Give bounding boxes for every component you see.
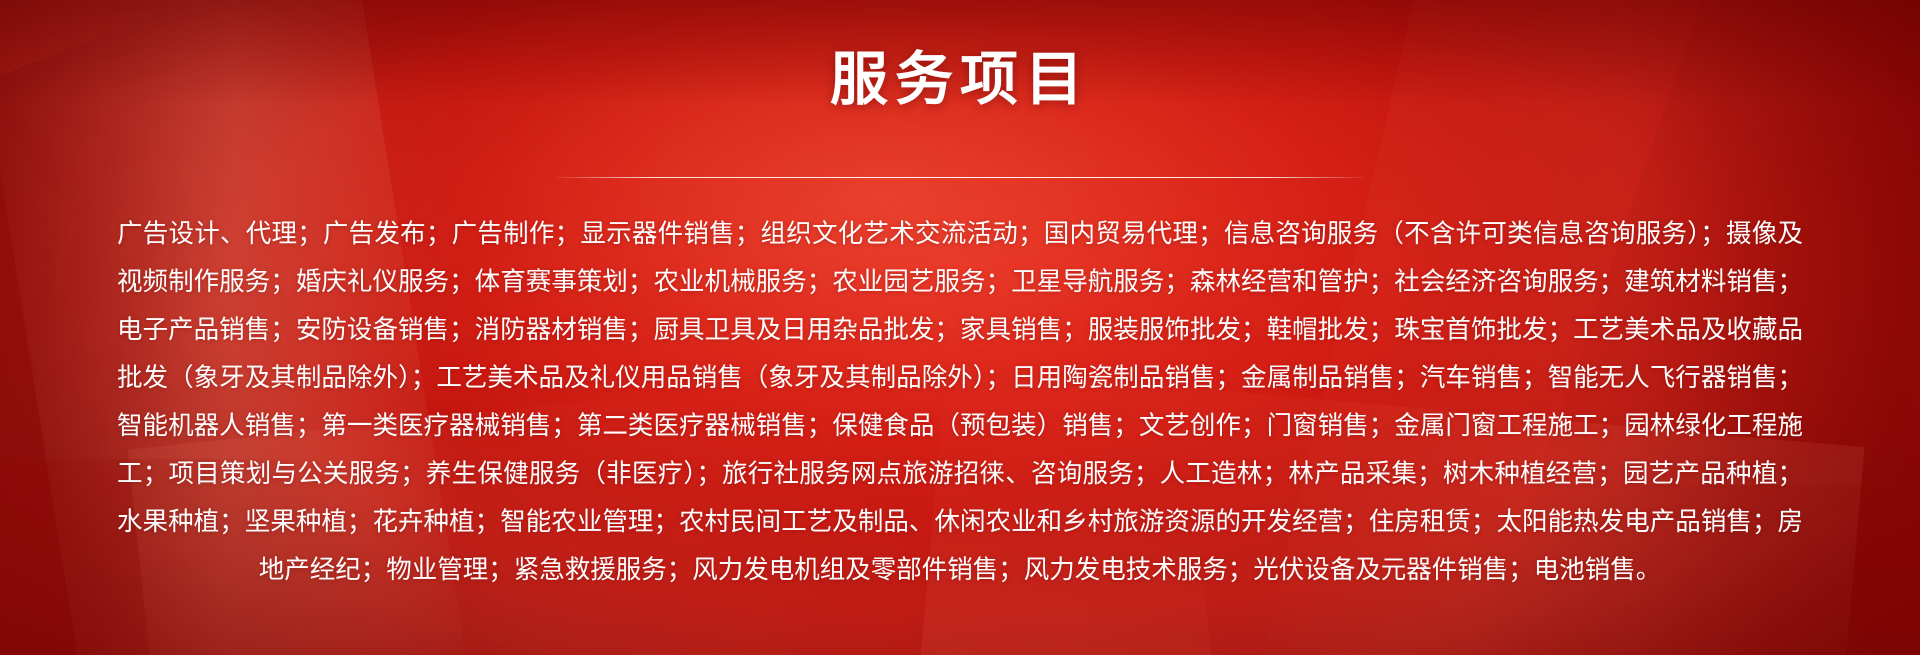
page-title: 服务项目: [830, 48, 1090, 112]
banner-content: 服务项目 广告设计、代理；广告发布；广告制作；显示器件销售；组织文化艺术交流活动…: [0, 0, 1920, 655]
title-divider: [555, 177, 1365, 178]
service-scope-paragraph: 广告设计、代理；广告发布；广告制作；显示器件销售；组织文化艺术交流活动；国内贸易…: [117, 210, 1803, 594]
service-items-banner: 服务项目 广告设计、代理；广告发布；广告制作；显示器件销售；组织文化艺术交流活动…: [0, 0, 1920, 655]
